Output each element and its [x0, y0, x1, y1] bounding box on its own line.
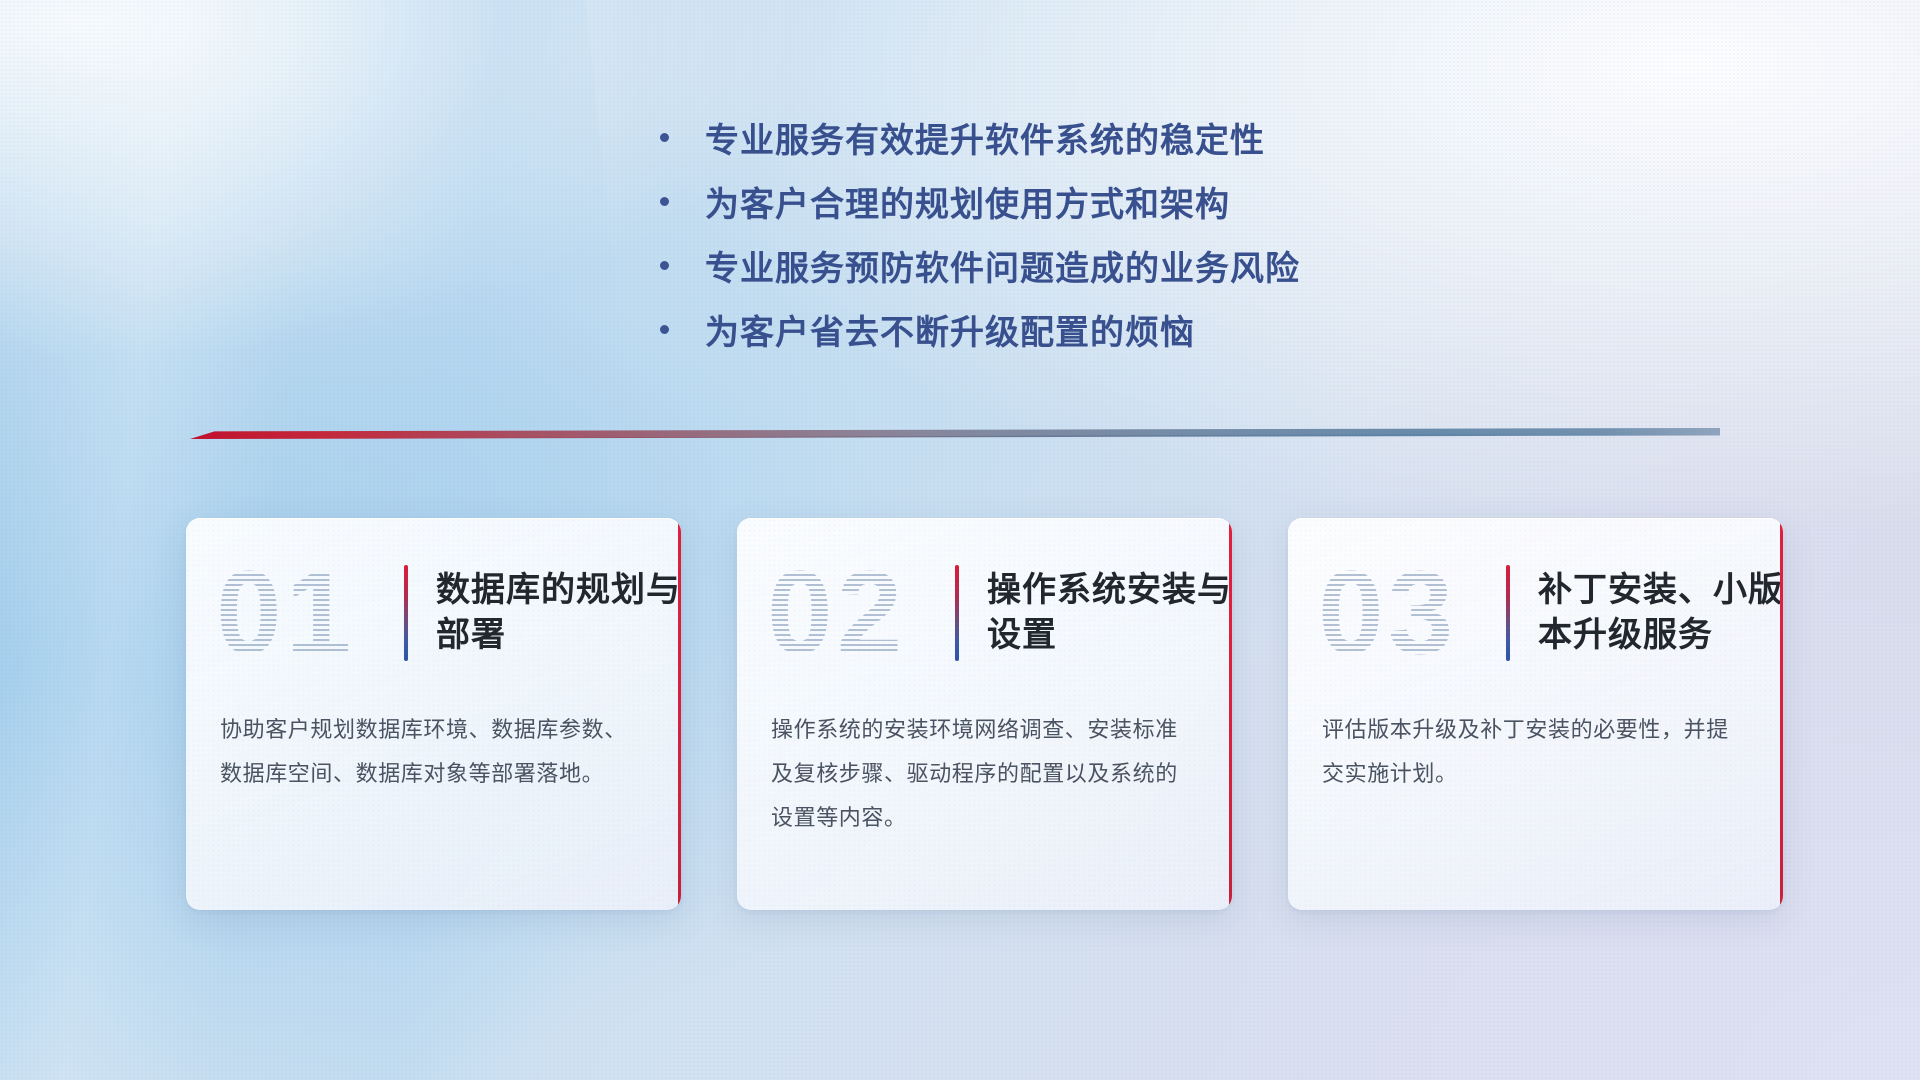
service-card[interactable]: 02 操作系统安装与设置 操作系统的安装环境网络调查、安装标准及复核步骤、驱动程… [737, 518, 1232, 910]
slide-canvas: 专业服务有效提升软件系统的稳定性 为客户合理的规划使用方式和架构 专业服务预防软… [0, 0, 1920, 1080]
card-number-watermark: 03 [1318, 554, 1504, 672]
list-item: 为客户省去不断升级配置的烦恼 [660, 297, 1300, 361]
service-card[interactable]: 01 数据库的规划与部署 协助客户规划数据库环境、数据库参数、数据库空间、数据库… [186, 518, 681, 910]
card-body-text: 评估版本升级及补丁安装的必要性，并提交实施计划。 [1288, 708, 1783, 796]
card-header: 03 补丁安装、小版本升级服务 [1288, 518, 1783, 708]
card-header: 01 数据库的规划与部署 [186, 518, 681, 708]
bullet-text: 为客户省去不断升级配置的烦恼 [705, 305, 1195, 354]
card-divider-bar [404, 565, 408, 661]
section-separator [190, 428, 1720, 440]
card-divider-bar [955, 565, 959, 661]
service-card[interactable]: 03 补丁安装、小版本升级服务 评估版本升级及补丁安装的必要性，并提交实施计划。 [1288, 518, 1783, 910]
bullet-text: 为客户合理的规划使用方式和架构 [705, 177, 1230, 226]
bullet-dot-icon [660, 133, 669, 142]
card-title: 补丁安装、小版本升级服务 [1538, 568, 1783, 658]
card-number-watermark: 01 [216, 554, 402, 672]
bullet-dot-icon [660, 197, 669, 206]
bullet-text: 专业服务有效提升软件系统的稳定性 [705, 113, 1265, 162]
bullet-dot-icon [660, 325, 669, 334]
list-item: 为客户合理的规划使用方式和架构 [660, 169, 1300, 233]
card-title: 数据库的规划与部署 [436, 568, 681, 658]
card-body-text: 操作系统的安装环境网络调查、安装标准及复核步骤、驱动程序的配置以及系统的设置等内… [737, 708, 1232, 840]
bullet-dot-icon [660, 261, 669, 270]
card-number-watermark: 02 [767, 554, 953, 672]
card-divider-bar [1506, 565, 1510, 661]
benefits-bullet-list: 专业服务有效提升软件系统的稳定性 为客户合理的规划使用方式和架构 专业服务预防软… [660, 105, 1300, 361]
list-item: 专业服务有效提升软件系统的稳定性 [660, 105, 1300, 169]
bullet-text: 专业服务预防软件问题造成的业务风险 [705, 241, 1300, 290]
card-header: 02 操作系统安装与设置 [737, 518, 1232, 708]
card-title: 操作系统安装与设置 [987, 568, 1232, 658]
service-card-group: 01 数据库的规划与部署 协助客户规划数据库环境、数据库参数、数据库空间、数据库… [186, 518, 1783, 910]
card-body-text: 协助客户规划数据库环境、数据库参数、数据库空间、数据库对象等部署落地。 [186, 708, 681, 796]
list-item: 专业服务预防软件问题造成的业务风险 [660, 233, 1300, 297]
